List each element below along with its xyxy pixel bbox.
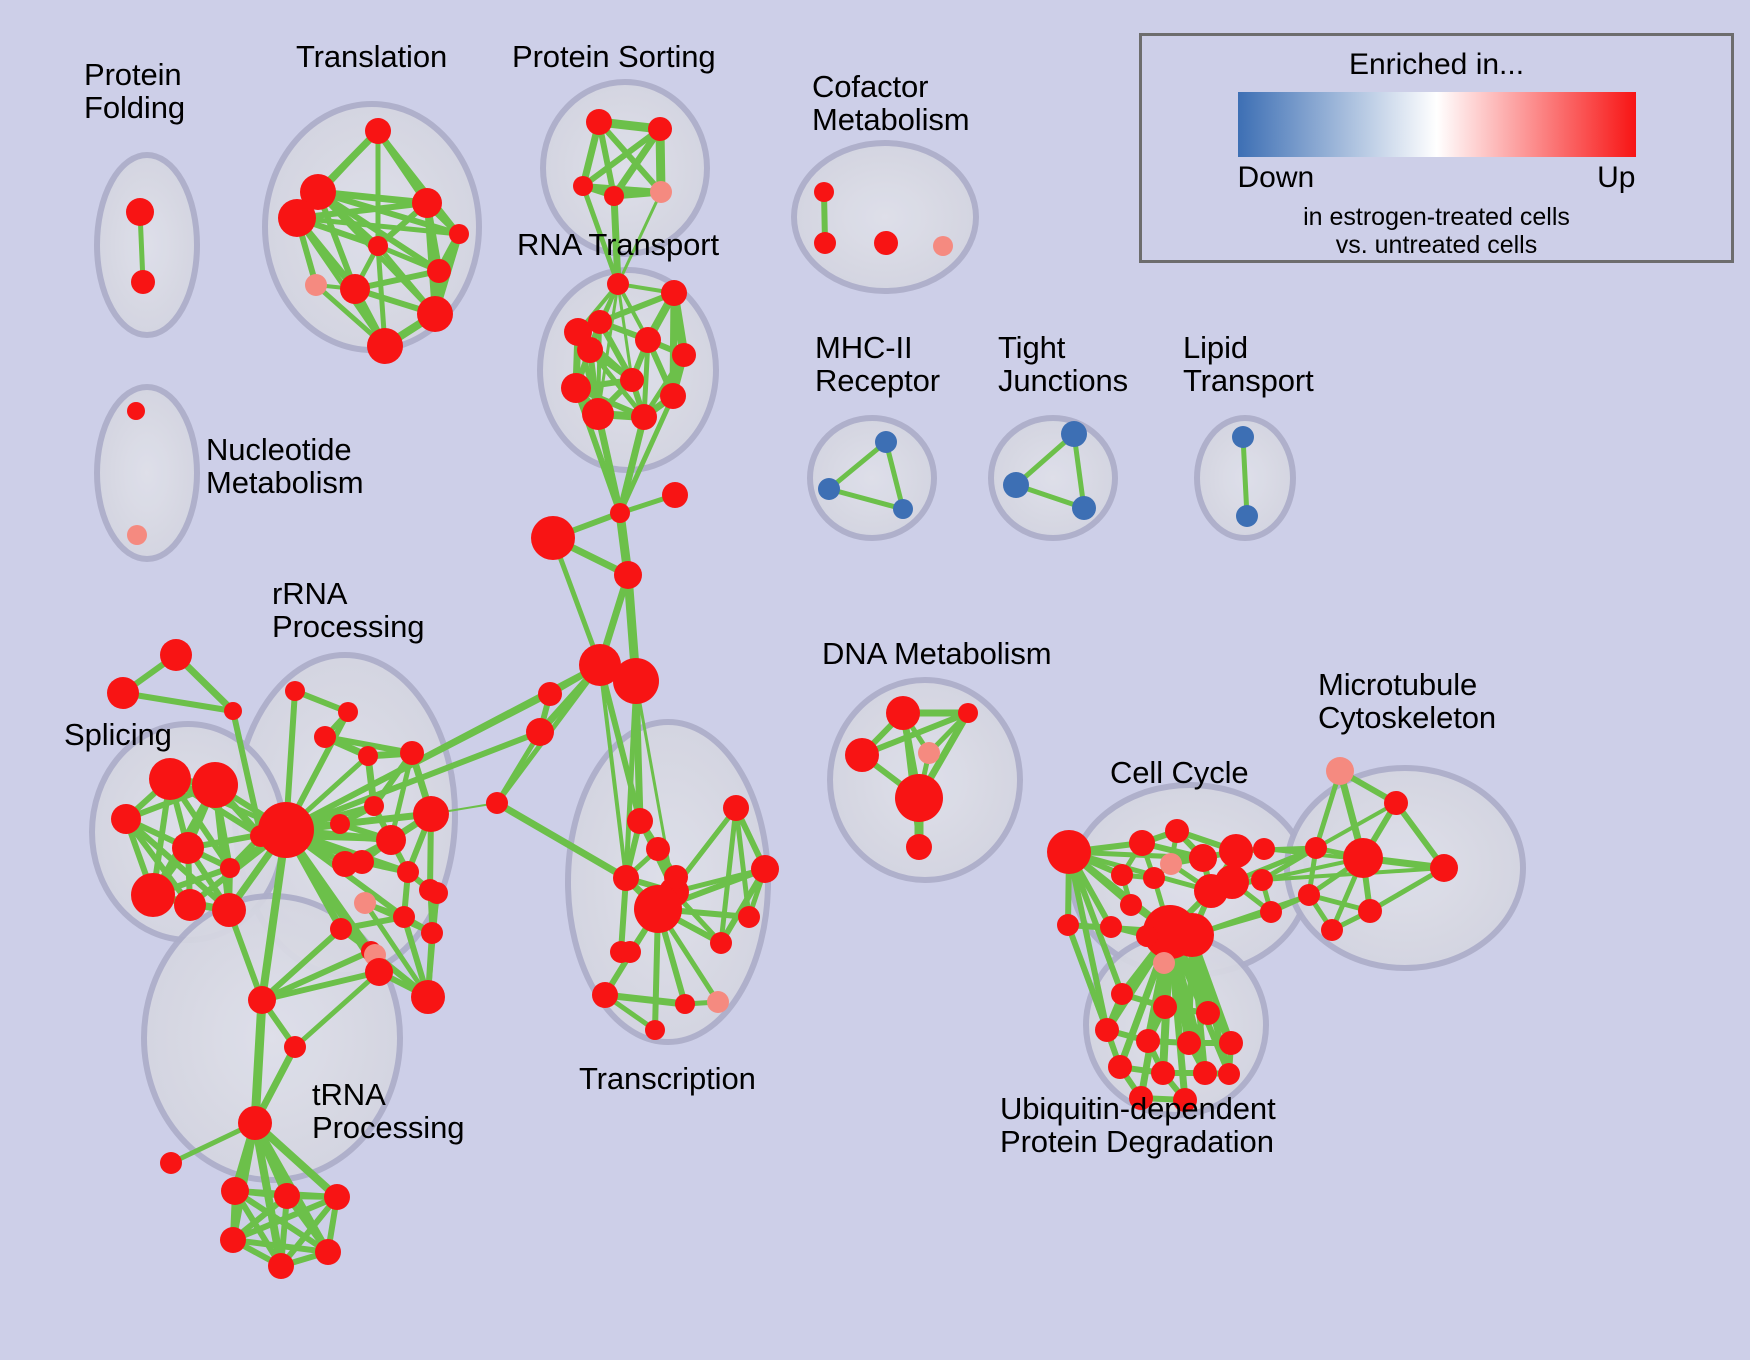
gene-set-node[interactable]	[1253, 838, 1275, 860]
gene-set-node[interactable]	[1111, 864, 1133, 886]
gene-set-node[interactable]	[365, 958, 393, 986]
legend-high-label: Up	[1597, 161, 1635, 195]
gene-set-node[interactable]	[672, 343, 696, 367]
gene-set-node[interactable]	[220, 858, 240, 878]
gene-set-node[interactable]	[814, 232, 836, 254]
gene-set-node[interactable]	[417, 296, 453, 332]
gene-set-node[interactable]	[660, 383, 686, 409]
legend-caption-line1: in estrogen-treated cells	[1303, 203, 1570, 231]
gene-set-node[interactable]	[324, 1184, 350, 1210]
gene-set-node[interactable]	[1136, 1029, 1160, 1053]
gene-set-node[interactable]	[1218, 1063, 1240, 1085]
gene-set-node[interactable]	[1072, 496, 1096, 520]
gene-set-node[interactable]	[1236, 505, 1258, 527]
gene-set-node[interactable]	[1232, 426, 1254, 448]
gene-set-node[interactable]	[248, 986, 276, 1014]
gene-set-node[interactable]	[619, 941, 641, 963]
gene-set-node[interactable]	[221, 1177, 249, 1205]
gene-set-node[interactable]	[1196, 1001, 1220, 1025]
gene-set-node[interactable]	[1251, 869, 1273, 891]
gene-set-node[interactable]	[400, 741, 424, 765]
gene-set-node[interactable]	[192, 762, 238, 808]
gene-set-node[interactable]	[172, 832, 204, 864]
gene-set-node[interactable]	[412, 188, 442, 218]
gene-set-node[interactable]	[315, 1239, 341, 1265]
gene-set-node[interactable]	[648, 117, 672, 141]
gene-set-node[interactable]	[646, 837, 670, 861]
cluster-label-ubiquitin-degradation: Ubiquitin-dependent Protein Degradation	[1000, 1092, 1276, 1159]
gene-set-node[interactable]	[397, 861, 419, 883]
cluster-label-splicing: Splicing	[64, 718, 172, 751]
gene-set-node[interactable]	[274, 1183, 300, 1209]
gene-set-node[interactable]	[393, 906, 415, 928]
cluster-label-trna-processing: tRNA Processing	[312, 1078, 464, 1145]
cluster-ellipse-mhc-ii-receptor	[810, 418, 934, 538]
gene-set-node[interactable]	[131, 270, 155, 294]
gene-set-node[interactable]	[358, 746, 378, 766]
gene-set-node[interactable]	[613, 865, 639, 891]
cluster-ellipse-protein-folding	[97, 155, 197, 335]
gene-set-node[interactable]	[650, 181, 672, 203]
gene-set-node[interactable]	[645, 1020, 665, 1040]
gene-set-node[interactable]	[126, 198, 154, 226]
gene-set-node[interactable]	[338, 702, 358, 722]
cluster-label-nucleotide-metabolism: Nucleotide Metabolism	[206, 433, 364, 500]
cluster-label-cofactor-metabolism: Cofactor Metabolism	[812, 70, 970, 137]
cluster-label-protein-sorting: Protein Sorting	[512, 40, 716, 73]
gene-set-node[interactable]	[314, 726, 336, 748]
gene-set-node[interactable]	[220, 1227, 246, 1253]
gene-set-node[interactable]	[1343, 838, 1383, 878]
gene-set-node[interactable]	[268, 1253, 294, 1279]
gene-set-node[interactable]	[874, 231, 898, 255]
legend-caption-line2: vs. untreated cells	[1336, 231, 1538, 259]
gene-set-node[interactable]	[427, 259, 451, 283]
gene-set-node[interactable]	[918, 742, 940, 764]
gene-set-node[interactable]	[1129, 830, 1155, 856]
figure-canvas: Protein FoldingTranslationProtein Sortin…	[0, 0, 1750, 1360]
gene-set-node[interactable]	[526, 718, 554, 746]
gene-set-node[interactable]	[376, 825, 406, 855]
gene-set-node[interactable]	[933, 236, 953, 256]
gene-set-node[interactable]	[284, 1036, 306, 1058]
gene-set-node[interactable]	[1384, 791, 1408, 815]
gene-set-node[interactable]	[350, 850, 374, 874]
gene-set-node[interactable]	[365, 118, 391, 144]
gene-set-node[interactable]	[579, 644, 621, 686]
gene-set-node[interactable]	[224, 702, 242, 720]
gene-set-node[interactable]	[1143, 867, 1165, 889]
gene-set-node[interactable]	[607, 273, 629, 295]
gene-set-node[interactable]	[1061, 421, 1087, 447]
gene-set-node[interactable]	[1298, 884, 1320, 906]
gene-set-node[interactable]	[604, 186, 624, 206]
gene-set-node[interactable]	[1165, 819, 1189, 843]
gene-set-node[interactable]	[573, 176, 593, 196]
gene-set-node[interactable]	[906, 834, 932, 860]
gene-set-node[interactable]	[1153, 995, 1177, 1019]
gene-set-node[interactable]	[738, 906, 760, 928]
legend-endpoints: Down Up	[1238, 161, 1636, 195]
gene-set-node[interactable]	[561, 373, 591, 403]
cluster-label-cell-cycle: Cell Cycle	[1110, 756, 1249, 789]
gene-set-node[interactable]	[330, 918, 352, 940]
gene-set-node[interactable]	[895, 774, 943, 822]
gene-set-node[interactable]	[449, 224, 469, 244]
gene-set-node[interactable]	[1047, 830, 1091, 874]
gene-set-node[interactable]	[1100, 916, 1122, 938]
gene-set-node[interactable]	[1120, 894, 1142, 916]
gene-set-node[interactable]	[631, 404, 657, 430]
gene-set-node[interactable]	[305, 274, 327, 296]
gene-set-node[interactable]	[340, 274, 370, 304]
gene-set-node[interactable]	[1111, 983, 1133, 1005]
gene-set-node[interactable]	[723, 795, 749, 821]
gene-set-node[interactable]	[1219, 1031, 1243, 1055]
gene-set-node[interactable]	[368, 236, 388, 256]
cluster-label-rrna-processing: rRNA Processing	[272, 577, 424, 644]
gene-set-node[interactable]	[238, 1106, 272, 1140]
gene-set-node[interactable]	[160, 639, 192, 671]
gene-set-node[interactable]	[1326, 757, 1354, 785]
gene-set-node[interactable]	[886, 696, 920, 730]
gene-set-node[interactable]	[1095, 1018, 1119, 1042]
gene-set-node[interactable]	[893, 499, 913, 519]
cluster-label-lipid-transport: Lipid Transport	[1183, 331, 1314, 398]
cluster-label-dna-metabolism: DNA Metabolism	[822, 637, 1051, 670]
gene-set-node[interactable]	[710, 932, 732, 954]
cluster-label-mhc-ii-receptor: MHC-II Receptor	[815, 331, 940, 398]
gene-set-node[interactable]	[751, 855, 779, 883]
gene-set-node[interactable]	[662, 482, 688, 508]
gene-set-node[interactable]	[1189, 844, 1217, 872]
gene-set-node[interactable]	[285, 681, 305, 701]
gene-set-node[interactable]	[818, 478, 840, 500]
cluster-label-protein-folding: Protein Folding	[84, 58, 185, 125]
gene-set-node[interactable]	[174, 889, 206, 921]
gene-set-node[interactable]	[661, 280, 687, 306]
gene-set-node[interactable]	[1151, 1061, 1175, 1085]
gene-set-node[interactable]	[664, 865, 688, 889]
gene-set-node[interactable]	[614, 561, 642, 589]
gene-set-node[interactable]	[1260, 901, 1282, 923]
gene-set-node[interactable]	[531, 516, 575, 560]
gene-set-node[interactable]	[411, 980, 445, 1014]
gene-set-node[interactable]	[814, 182, 834, 202]
gene-set-node[interactable]	[586, 109, 612, 135]
gene-set-node[interactable]	[354, 892, 376, 914]
cluster-label-rna-transport: RNA Transport	[517, 228, 719, 261]
cluster-label-microtubule-cytoskeleton: Microtubule Cytoskeleton	[1318, 668, 1496, 735]
gene-set-node[interactable]	[1057, 914, 1079, 936]
gene-set-node[interactable]	[486, 792, 508, 814]
cluster-label-translation: Translation	[296, 40, 447, 73]
gene-set-node[interactable]	[111, 804, 141, 834]
gene-set-node[interactable]	[131, 873, 175, 917]
gene-set-node[interactable]	[364, 796, 384, 816]
cluster-label-tight-junctions: Tight Junctions	[998, 331, 1128, 398]
gene-set-node[interactable]	[367, 328, 403, 364]
gene-set-node[interactable]	[582, 398, 614, 430]
gene-set-node[interactable]	[592, 982, 618, 1008]
gene-set-node[interactable]	[1160, 853, 1182, 875]
gene-set-node[interactable]	[1108, 1055, 1132, 1079]
gene-set-node[interactable]	[610, 503, 630, 523]
gene-set-node[interactable]	[160, 1152, 182, 1174]
gene-set-node[interactable]	[538, 682, 562, 706]
gene-set-node[interactable]	[845, 738, 879, 772]
gene-set-node[interactable]	[707, 991, 729, 1013]
gene-set-node[interactable]	[635, 327, 661, 353]
gene-set-node[interactable]	[620, 368, 644, 392]
gene-set-node[interactable]	[1153, 952, 1175, 974]
gene-set-node[interactable]	[107, 677, 139, 709]
gene-set-node[interactable]	[1358, 899, 1382, 923]
gene-set-node[interactable]	[421, 922, 443, 944]
gene-set-node[interactable]	[634, 885, 682, 933]
gene-set-node[interactable]	[1170, 913, 1214, 957]
legend-low-label: Down	[1238, 161, 1315, 195]
gene-set-node[interactable]	[1321, 919, 1343, 941]
gene-set-node[interactable]	[127, 402, 145, 420]
cluster-label-transcription: Transcription	[579, 1062, 756, 1095]
gene-set-node[interactable]	[1177, 1031, 1201, 1055]
gene-set-node[interactable]	[1193, 1061, 1217, 1085]
gene-set-node[interactable]	[258, 802, 314, 858]
gene-set-node[interactable]	[1305, 837, 1327, 859]
cluster-ellipse-nucleotide-metabolism	[97, 387, 197, 559]
gene-set-node[interactable]	[1194, 874, 1228, 908]
gene-set-node[interactable]	[212, 893, 246, 927]
gene-set-node[interactable]	[1136, 925, 1158, 947]
gene-set-node[interactable]	[577, 337, 603, 363]
color-scale-bar	[1238, 92, 1636, 157]
gene-set-node[interactable]	[1219, 834, 1253, 868]
legend-panel: Enriched in... Down Up in estrogen-treat…	[1139, 33, 1734, 263]
gene-set-node[interactable]	[278, 199, 316, 237]
gene-set-node[interactable]	[958, 703, 978, 723]
gene-set-node[interactable]	[875, 431, 897, 453]
gene-set-node[interactable]	[675, 994, 695, 1014]
gene-set-node[interactable]	[426, 882, 448, 904]
gene-set-node[interactable]	[330, 814, 350, 834]
gene-set-node[interactable]	[149, 758, 191, 800]
gene-set-node[interactable]	[127, 525, 147, 545]
gene-set-node[interactable]	[1003, 472, 1029, 498]
legend-title: Enriched in...	[1349, 48, 1524, 82]
cluster-ellipse-cofactor-metabolism	[794, 143, 976, 291]
gene-set-node[interactable]	[1430, 854, 1458, 882]
gene-set-node[interactable]	[413, 796, 449, 832]
gene-set-node[interactable]	[627, 808, 653, 834]
